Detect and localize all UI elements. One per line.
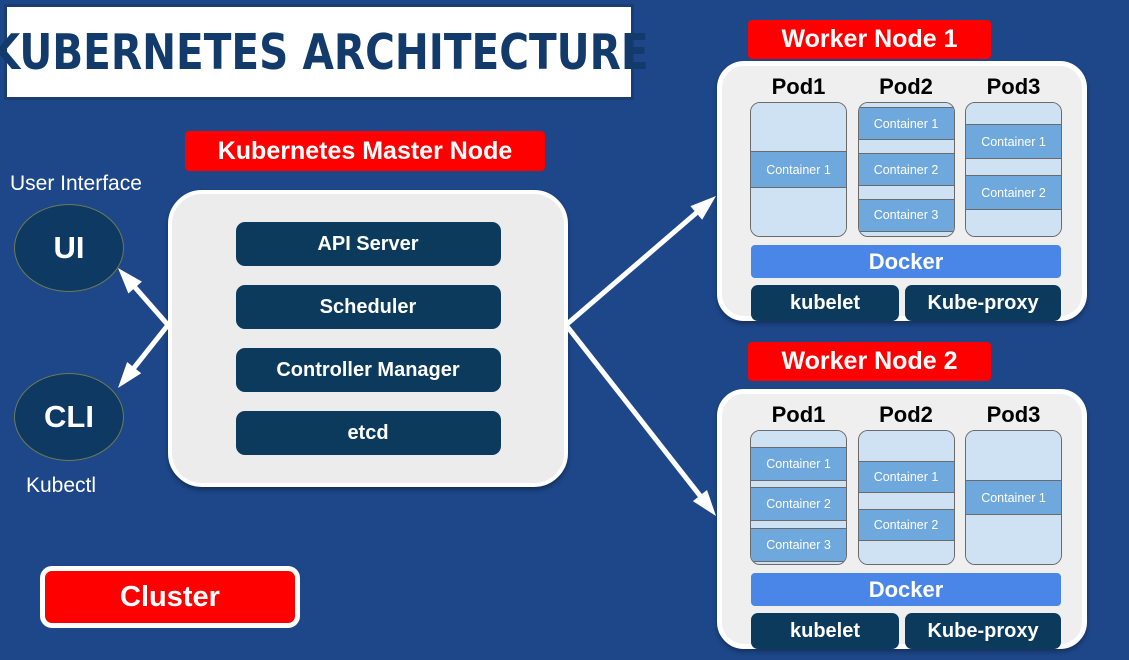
master-to-worker2-line [566, 325, 704, 500]
cli-node-label: CLI [44, 399, 94, 435]
pod-column: Pod2Container 1Container 2 [858, 400, 955, 565]
pod-empty-space [966, 431, 1061, 480]
pod-box[interactable]: Container 1Container 2 [858, 430, 955, 565]
pod-empty-space [966, 515, 1061, 564]
container-block[interactable]: Container 3 [859, 199, 954, 232]
master-to-ui-line [131, 283, 168, 325]
container-block[interactable]: Container 2 [751, 487, 846, 521]
pod-column: Pod1Container 1Container 2Container 3 [750, 400, 847, 565]
master-to-worker1-line [566, 209, 701, 325]
pod-box[interactable]: Container 1Container 2Container 3 [750, 430, 847, 565]
ui-node-label: UI [54, 230, 85, 266]
master-component-scheduler[interactable]: Scheduler [236, 285, 501, 329]
page-title-text: KUBERNETES ARCHITECTURE [0, 24, 649, 81]
worker-2-pods-row: Pod1Container 1Container 2Container 3Pod… [750, 400, 1062, 565]
pod-empty-space [859, 140, 954, 153]
pod-label: Pod3 [965, 400, 1062, 430]
master-node-badge: Kubernetes Master Node [185, 131, 545, 171]
worker-1-kubelet[interactable]: kubelet [751, 285, 899, 321]
pod-empty-space [966, 159, 1061, 175]
worker-1-kube-proxy[interactable]: Kube-proxy [905, 285, 1061, 321]
pod-empty-space [859, 186, 954, 199]
pod-label: Pod2 [858, 400, 955, 430]
pod-box[interactable]: Container 1Container 2 [965, 102, 1062, 237]
container-block[interactable]: Container 1 [859, 107, 954, 140]
worker-2-agents-row: kubelet Kube-proxy [751, 613, 1061, 649]
master-to-worker1-arrowhead [690, 196, 716, 220]
ui-node[interactable]: UI [14, 204, 124, 292]
master-to-worker2-arrowhead [693, 490, 716, 516]
master-to-cli-arrowhead [118, 362, 141, 388]
container-block[interactable]: Container 2 [966, 175, 1061, 210]
pod-empty-space [966, 210, 1061, 236]
pod-box[interactable]: Container 1Container 2Container 3 [858, 102, 955, 237]
worker-1-agents-row: kubelet Kube-proxy [751, 285, 1061, 321]
pod-empty-space [751, 188, 846, 236]
pod-empty-space [751, 521, 846, 528]
worker-1-docker-bar[interactable]: Docker [751, 245, 1061, 278]
diagram-canvas: KUBERNETES ARCHITECTURE User Interface K… [0, 0, 1129, 660]
user-interface-label: User Interface [10, 172, 142, 196]
worker-2-kubelet[interactable]: kubelet [751, 613, 899, 649]
container-block[interactable]: Container 1 [966, 480, 1061, 514]
master-node-panel: API Server Scheduler Controller Manager … [168, 190, 568, 487]
pod-empty-space [859, 493, 954, 509]
page-title: KUBERNETES ARCHITECTURE [4, 4, 634, 100]
container-block[interactable]: Container 2 [859, 153, 954, 186]
worker-node-2-panel: Pod1Container 1Container 2Container 3Pod… [717, 389, 1087, 649]
pod-label: Pod3 [965, 72, 1062, 102]
pod-empty-space [751, 431, 846, 447]
container-block[interactable]: Container 1 [751, 447, 846, 481]
pod-column: Pod3Container 1Container 2 [965, 72, 1062, 237]
worker-node-1-badge: Worker Node 1 [748, 20, 991, 59]
worker-node-1-panel: Pod1Container 1Pod2Container 1Container … [717, 61, 1087, 321]
pod-empty-space [751, 562, 846, 564]
worker-1-pods-row: Pod1Container 1Pod2Container 1Container … [750, 72, 1062, 237]
container-block[interactable]: Container 1 [859, 461, 954, 493]
master-component-api-server[interactable]: API Server [236, 222, 501, 266]
pod-column: Pod2Container 1Container 2Container 3 [858, 72, 955, 237]
pod-empty-space [859, 232, 954, 236]
cli-node[interactable]: CLI [14, 373, 124, 461]
master-component-controller-manager[interactable]: Controller Manager [236, 348, 501, 392]
pod-label: Pod2 [858, 72, 955, 102]
worker-2-kube-proxy[interactable]: Kube-proxy [905, 613, 1061, 649]
pod-column: Pod3Container 1 [965, 400, 1062, 565]
pod-column: Pod1Container 1 [750, 72, 847, 237]
pod-label: Pod1 [750, 400, 847, 430]
master-to-cli-line [130, 325, 168, 372]
worker-node-2-badge: Worker Node 2 [748, 342, 991, 381]
container-block[interactable]: Container 1 [966, 124, 1061, 159]
master-component-etcd[interactable]: etcd [236, 411, 501, 455]
pod-empty-space [859, 541, 954, 564]
pod-box[interactable]: Container 1 [965, 430, 1062, 565]
pod-label: Pod1 [750, 72, 847, 102]
pod-empty-space [966, 103, 1061, 124]
master-to-ui-arrowhead [118, 268, 142, 293]
container-block[interactable]: Container 1 [751, 151, 846, 189]
container-block[interactable]: Container 2 [859, 509, 954, 541]
pod-empty-space [751, 481, 846, 488]
worker-2-docker-bar[interactable]: Docker [751, 573, 1061, 606]
cluster-badge: Cluster [40, 566, 300, 628]
pod-box[interactable]: Container 1 [750, 102, 847, 237]
container-block[interactable]: Container 3 [751, 528, 846, 562]
pod-empty-space [751, 103, 846, 151]
kubectl-label: Kubectl [26, 474, 96, 498]
pod-empty-space [859, 431, 954, 461]
